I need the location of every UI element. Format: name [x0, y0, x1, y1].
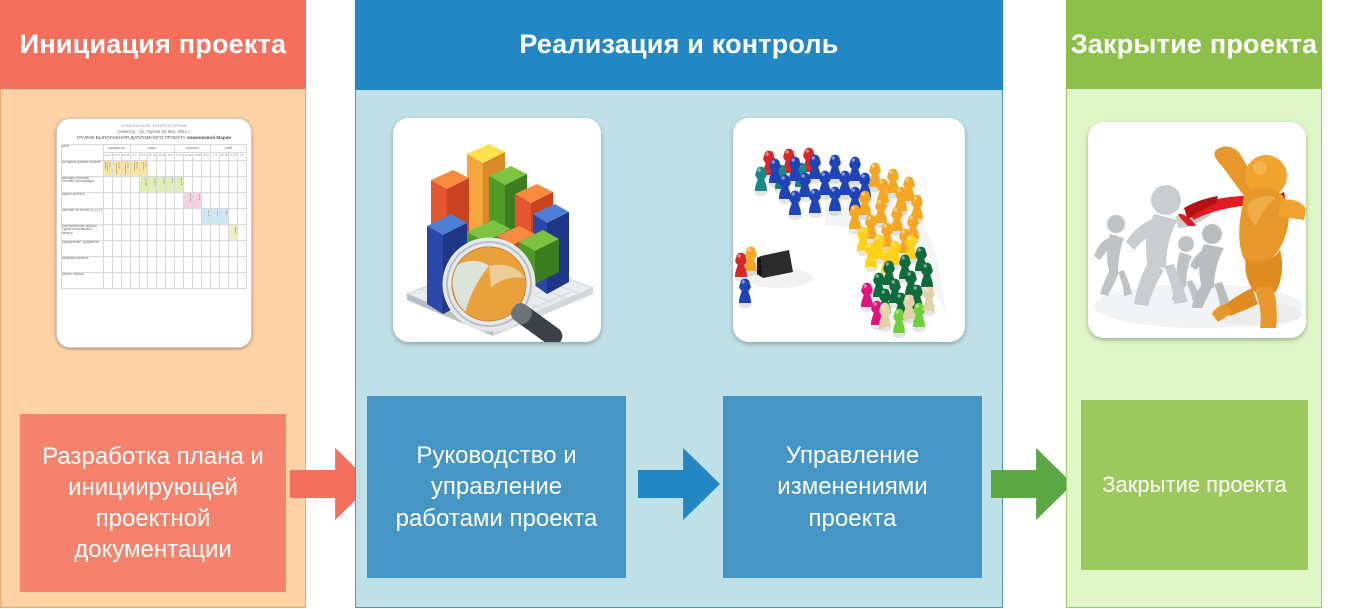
- gantt-month-header: март: [130, 144, 175, 153]
- bar-chart-magnifier-graphic: [393, 118, 601, 342]
- gantt-empty-cell: [175, 224, 184, 240]
- gantt-empty-cell: [193, 256, 202, 272]
- gantt-empty-cell: [193, 160, 202, 176]
- gantt-month-header: апрель: [175, 144, 211, 153]
- gantt-empty-cell: [157, 160, 166, 176]
- gantt-bar-text: разрезы: [149, 177, 156, 191]
- gantt-empty-cell: [237, 240, 246, 256]
- gantt-empty-cell: [211, 256, 220, 272]
- gantt-empty-cell: [211, 160, 220, 176]
- gantt-empty-cell: [166, 192, 175, 208]
- gantt-task-row: исходные данные проектасбор исходных дан…: [62, 160, 247, 176]
- bar-chart-magnifier-image: [393, 118, 601, 342]
- gantt-empty-cell: [103, 224, 112, 240]
- gantt-week-header: 10-16: [220, 153, 229, 160]
- gantt-empty-cell: [202, 240, 211, 256]
- gantt-empty-cell: [237, 272, 246, 288]
- gantt-bar-cell: узлы: [166, 176, 175, 192]
- gantt-task-row: печать, выпуск.: [62, 272, 247, 288]
- gantt-week-header: 8-14: [103, 153, 112, 160]
- gantt-task-label: проверка проекта.: [62, 256, 104, 272]
- gantt-week-header: 3-9: [211, 153, 220, 160]
- gantt-task-row: пояснительная записка. Сдача на проверку…: [62, 224, 247, 240]
- gantt-week-header: 15-21: [112, 153, 121, 160]
- gantt-title-prefix: ГРАФИК ВЫПОЛНЕНИЯ ДИПЛОМНОГО ПРОЕКТА: [77, 135, 187, 140]
- gantt-empty-cell: [237, 208, 246, 224]
- gantt-chart-schedule-image: ЧЕЛЯБИНСКИЙ АРХИТЕКТУРНЫЙ Семестр - 12, …: [56, 118, 252, 348]
- gantt-empty-cell: [148, 224, 157, 240]
- gantt-empty-cell: [157, 192, 166, 208]
- gantt-empty-cell: [202, 272, 211, 288]
- gantt-bar-text: детали: [176, 177, 183, 191]
- gantt-task-row: фасады и генплан, сечения, конструкциифа…: [62, 176, 247, 192]
- gantt-bar-text: анализ территории: [113, 161, 120, 175]
- gantt-empty-cell: [157, 240, 166, 256]
- gantt-empty-cell: [175, 160, 184, 176]
- gantt-empty-cell: [157, 256, 166, 272]
- gantt-empty-cell: [202, 192, 211, 208]
- gantt-bar-text: планы: [158, 177, 165, 191]
- gantt-empty-cell: [112, 192, 121, 208]
- gantt-week-header: 22-28: [157, 153, 166, 160]
- gantt-empty-cell: [130, 256, 139, 272]
- gantt-week-header: 17-23: [229, 153, 238, 160]
- gantt-empty-cell: [184, 224, 193, 240]
- gantt-week-header: 12-18: [184, 153, 193, 160]
- gantt-empty-cell: [202, 160, 211, 176]
- gantt-empty-cell: [121, 256, 130, 272]
- gantt-empty-cell: [175, 272, 184, 288]
- gantt-empty-cell: [202, 224, 211, 240]
- gantt-bar-text: эскиз проекта: [140, 161, 147, 175]
- gantt-empty-cell: [193, 224, 202, 240]
- crowd-of-pawns-image: [733, 118, 965, 342]
- gantt-bar-cell: лист 2: [211, 208, 220, 224]
- caption-project-closing: Закрытие проекта: [1081, 400, 1308, 570]
- gantt-empty-cell: [130, 192, 139, 208]
- gantt-empty-cell: [220, 256, 229, 272]
- gantt-empty-cell: [148, 256, 157, 272]
- gantt-bar-text: лист 1: [203, 209, 210, 223]
- gantt-empty-cell: [175, 192, 184, 208]
- gantt-empty-cell: [103, 208, 112, 224]
- gantt-task-row: чертежи на листах А1 (1:1)лист 1лист 2ли…: [62, 208, 247, 224]
- gantt-empty-cell: [220, 224, 229, 240]
- gantt-empty-cell: [220, 176, 229, 192]
- gantt-task-row: оформление, документы.: [62, 240, 247, 256]
- gantt-main-title: ГРАФИК ВЫПОЛНЕНИЯ ДИПЛОМНОГО ПРОЕКТА Зим…: [61, 135, 247, 141]
- gantt-task-label: пояснительная записка. Сдача на проверку…: [62, 224, 104, 240]
- gantt-empty-cell: [130, 208, 139, 224]
- gantt-bar-text: сбор исходных данных: [104, 161, 111, 175]
- gantt-week-header: 8-14: [139, 153, 148, 160]
- gantt-task-column-header: цель: [62, 144, 104, 160]
- gantt-empty-cell: [229, 256, 238, 272]
- gantt-week-header: 26-2: [202, 153, 211, 160]
- phase-header-execution: Реализация и контроль: [355, 0, 1003, 90]
- gantt-empty-cell: [112, 208, 121, 224]
- gantt-bar-text: лист 2: [212, 209, 219, 223]
- gantt-empty-cell: [148, 272, 157, 288]
- gantt-empty-cell: [130, 176, 139, 192]
- gantt-empty-cell: [220, 240, 229, 256]
- gantt-empty-cell: [184, 256, 193, 272]
- gantt-empty-cell: [220, 192, 229, 208]
- gantt-table-head: цельфевральмартапрельмай8-1415-2122-281-…: [62, 144, 247, 160]
- gantt-empty-cell: [121, 176, 130, 192]
- gantt-bar-cell: анализ территории: [112, 160, 121, 176]
- gantt-empty-cell: [166, 272, 175, 288]
- gantt-empty-cell: [184, 176, 193, 192]
- gantt-empty-cell: [184, 208, 193, 224]
- gantt-bar-cell: детали: [175, 176, 184, 192]
- gantt-empty-cell: [121, 272, 130, 288]
- gantt-week-header: 1-7: [130, 153, 139, 160]
- gantt-bar-cell: расчёты: [184, 192, 193, 208]
- gantt-empty-cell: [237, 160, 246, 176]
- gantt-empty-cell: [112, 272, 121, 288]
- gantt-bar-cell: разрезы: [148, 176, 157, 192]
- caption-change-management: Управление изменениями проекта: [723, 396, 982, 578]
- gantt-week-header: 15-21: [148, 153, 157, 160]
- gantt-table-body: исходные данные проектасбор исходных дан…: [62, 160, 247, 288]
- caption-leadership-and-management: Руководство и управление работами проект…: [367, 396, 626, 578]
- gantt-empty-cell: [139, 208, 148, 224]
- arrow-execution-to-closing: [991, 443, 1073, 525]
- gantt-empty-cell: [139, 240, 148, 256]
- gantt-week-header: 5-11: [175, 153, 184, 160]
- gantt-bar-cell: выбор варианта: [130, 160, 139, 176]
- gantt-task-label: проект проекта: [62, 192, 104, 208]
- gantt-empty-cell: [175, 240, 184, 256]
- gantt-empty-cell: [237, 192, 246, 208]
- gantt-bar-cell: сбор исходных данных: [103, 160, 112, 176]
- gantt-empty-cell: [103, 192, 112, 208]
- gantt-empty-cell: [121, 240, 130, 256]
- gantt-task-label: исходные данные проекта: [62, 160, 104, 176]
- gantt-empty-cell: [184, 160, 193, 176]
- gantt-empty-cell: [211, 240, 220, 256]
- gantt-empty-cell: [184, 272, 193, 288]
- gantt-empty-cell: [103, 176, 112, 192]
- gantt-empty-cell: [112, 240, 121, 256]
- gantt-bar-text: лист 3: [221, 209, 228, 223]
- gantt-empty-cell: [184, 240, 193, 256]
- finish-line-runner-graphic: [1088, 122, 1306, 338]
- gantt-week-header: 24: [237, 153, 246, 160]
- finish-line-runner-image: [1088, 122, 1306, 338]
- gantt-month-header-row: цельфевральмартапрельмай: [62, 144, 247, 153]
- gantt-empty-cell: [103, 240, 112, 256]
- gantt-empty-cell: [202, 256, 211, 272]
- gantt-empty-cell: [220, 160, 229, 176]
- gantt-empty-cell: [193, 208, 202, 224]
- gantt-empty-cell: [130, 272, 139, 288]
- project-phases-diagram: Инициация проекта ЧЕЛЯБИНСКИЙ АРХИТЕКТУР…: [0, 0, 1347, 609]
- gantt-empty-cell: [139, 272, 148, 288]
- gantt-empty-cell: [237, 176, 246, 192]
- gantt-empty-cell: [166, 240, 175, 256]
- gantt-week-header: 22-28: [121, 153, 130, 160]
- gantt-task-label: фасады и генплан, сечения, конструкции: [62, 176, 104, 192]
- gantt-empty-cell: [229, 272, 238, 288]
- gantt-empty-cell: [103, 256, 112, 272]
- gantt-empty-cell: [229, 160, 238, 176]
- gantt-title-block: ЧЕЛЯБИНСКИЙ АРХИТЕКТУРНЫЙ Семестр - 12, …: [61, 124, 247, 141]
- gantt-empty-cell: [112, 176, 121, 192]
- gantt-empty-cell: [211, 224, 220, 240]
- gantt-month-header: февраль: [103, 144, 130, 153]
- gantt-empty-cell: [166, 160, 175, 176]
- phase-header-closing: Закрытие проекта: [1066, 0, 1322, 89]
- gantt-empty-cell: [157, 224, 166, 240]
- gantt-empty-cell: [175, 256, 184, 272]
- gantt-bar-cell: лист 3: [220, 208, 229, 224]
- gantt-empty-cell: [157, 208, 166, 224]
- gantt-empty-cell: [237, 224, 246, 240]
- gantt-chart-content: ЧЕЛЯБИНСКИЙ АРХИТЕКТУРНЫЙ Семестр - 12, …: [57, 119, 251, 347]
- gantt-empty-cell: [193, 240, 202, 256]
- gantt-empty-cell: [229, 208, 238, 224]
- gantt-bar-cell: лист 1: [202, 208, 211, 224]
- gantt-task-label: чертежи на листах А1 (1:1): [62, 208, 104, 224]
- gantt-empty-cell: [229, 192, 238, 208]
- gantt-bar-text: смета: [194, 193, 201, 207]
- gantt-empty-cell: [166, 208, 175, 224]
- gantt-empty-cell: [166, 256, 175, 272]
- gantt-empty-cell: [157, 272, 166, 288]
- gantt-empty-cell: [139, 256, 148, 272]
- gantt-empty-cell: [103, 272, 112, 288]
- gantt-empty-cell: [220, 272, 229, 288]
- gantt-empty-cell: [121, 224, 130, 240]
- gantt-bar-text: выбор варианта: [131, 161, 138, 175]
- gantt-task-row: проверка проекта.: [62, 256, 247, 272]
- gantt-empty-cell: [148, 160, 157, 176]
- gantt-bar-cell: защита: [229, 224, 238, 240]
- gantt-empty-cell: [130, 240, 139, 256]
- phase-header-initiation: Инициация проекта: [0, 0, 306, 89]
- gantt-empty-cell: [175, 208, 184, 224]
- gantt-bar-text: узлы: [167, 177, 174, 191]
- gantt-empty-cell: [148, 192, 157, 208]
- gantt-month-header: май: [211, 144, 247, 153]
- gantt-bar-cell: смета: [193, 192, 202, 208]
- caption-initiation-documentation: Разработка плана и инициирующей проектно…: [20, 414, 286, 592]
- gantt-title-name: Зиминковой Марии: [187, 135, 231, 140]
- gantt-empty-cell: [130, 224, 139, 240]
- gantt-empty-cell: [229, 176, 238, 192]
- gantt-bar-cell: схема планировки: [121, 160, 130, 176]
- gantt-task-row: проект проектарасчётысмета: [62, 192, 247, 208]
- gantt-empty-cell: [139, 224, 148, 240]
- gantt-empty-cell: [112, 256, 121, 272]
- gantt-bar-cell: эскиз проекта: [139, 160, 148, 176]
- gantt-empty-cell: [211, 272, 220, 288]
- gantt-bar-cell: планы: [157, 176, 166, 192]
- gantt-bar-text: расчёты: [185, 193, 192, 207]
- gantt-table: цельфевральмартапрельмай8-1415-2122-281-…: [61, 144, 247, 289]
- gantt-task-label: печать, выпуск.: [62, 272, 104, 288]
- gantt-week-header: 19-25: [193, 153, 202, 160]
- gantt-empty-cell: [166, 224, 175, 240]
- gantt-empty-cell: [193, 272, 202, 288]
- gantt-empty-cell: [211, 176, 220, 192]
- gantt-empty-cell: [121, 192, 130, 208]
- gantt-empty-cell: [148, 240, 157, 256]
- gantt-empty-cell: [237, 256, 246, 272]
- gantt-task-label: оформление, документы.: [62, 240, 104, 256]
- gantt-week-header: 29-4: [166, 153, 175, 160]
- gantt-empty-cell: [229, 240, 238, 256]
- crowd-of-pawns-graphic: [733, 118, 965, 342]
- gantt-empty-cell: [148, 208, 157, 224]
- gantt-bar-text: фасады: [140, 177, 147, 191]
- gantt-bar-text: защита: [230, 225, 237, 239]
- gantt-bar-text: схема планировки: [122, 161, 129, 175]
- arrow-leadership-to-change: [638, 443, 720, 525]
- gantt-empty-cell: [112, 224, 121, 240]
- gantt-empty-cell: [211, 192, 220, 208]
- gantt-bar-cell: фасады: [139, 176, 148, 192]
- gantt-empty-cell: [139, 192, 148, 208]
- gantt-empty-cell: [193, 176, 202, 192]
- gantt-empty-cell: [202, 176, 211, 192]
- gantt-empty-cell: [121, 208, 130, 224]
